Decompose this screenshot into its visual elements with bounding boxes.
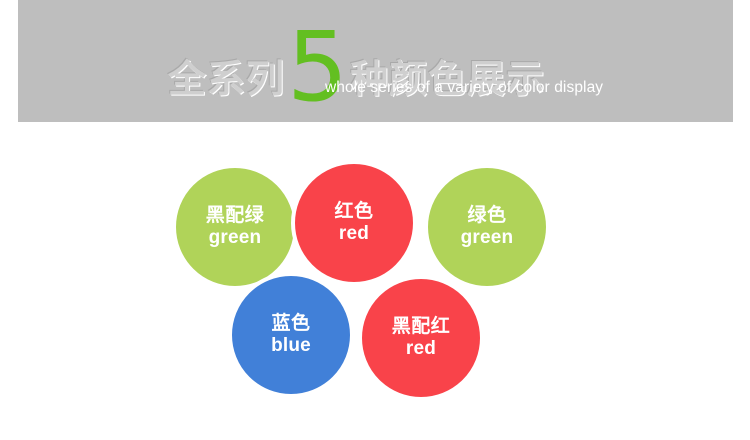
swatch-label-cn: 黑配绿	[206, 205, 265, 227]
swatch-label-en: green	[209, 227, 262, 249]
page-subtitle: whole series of a variety of color displ…	[325, 79, 603, 97]
header-band: 全系列 5 种颜色展示 whole series of a variety of…	[18, 0, 733, 122]
color-swatch-green-left[interactable]: 黑配绿 green	[172, 164, 298, 290]
title-prefix-text: 全系列	[168, 61, 285, 99]
color-swatch-red-top[interactable]: 红色 red	[291, 160, 417, 286]
swatch-label-cn: 黑配红	[392, 316, 451, 338]
swatch-label-en: green	[461, 227, 514, 249]
banner-root: 全系列 5 种颜色展示 whole series of a variety of…	[0, 0, 750, 440]
color-swatch-green-right[interactable]: 绿色 green	[424, 164, 550, 290]
swatch-label-cn: 蓝色	[271, 313, 310, 335]
color-swatch-blue[interactable]: 蓝色 blue	[228, 272, 354, 398]
color-circle-cluster: 黑配绿 green 红色 red 绿色 green 蓝色 blue 黑配红 re…	[0, 122, 750, 440]
swatch-label-en: red	[339, 223, 369, 245]
swatch-label-cn: 绿色	[467, 205, 506, 227]
header-content: 全系列 5 种颜色展示 whole series of a variety of…	[18, 0, 733, 122]
swatch-label-cn: 红色	[334, 201, 373, 223]
swatch-label-en: red	[406, 338, 436, 360]
swatch-label-en: blue	[271, 335, 311, 357]
color-swatch-red-bottom[interactable]: 黑配红 red	[358, 275, 484, 401]
